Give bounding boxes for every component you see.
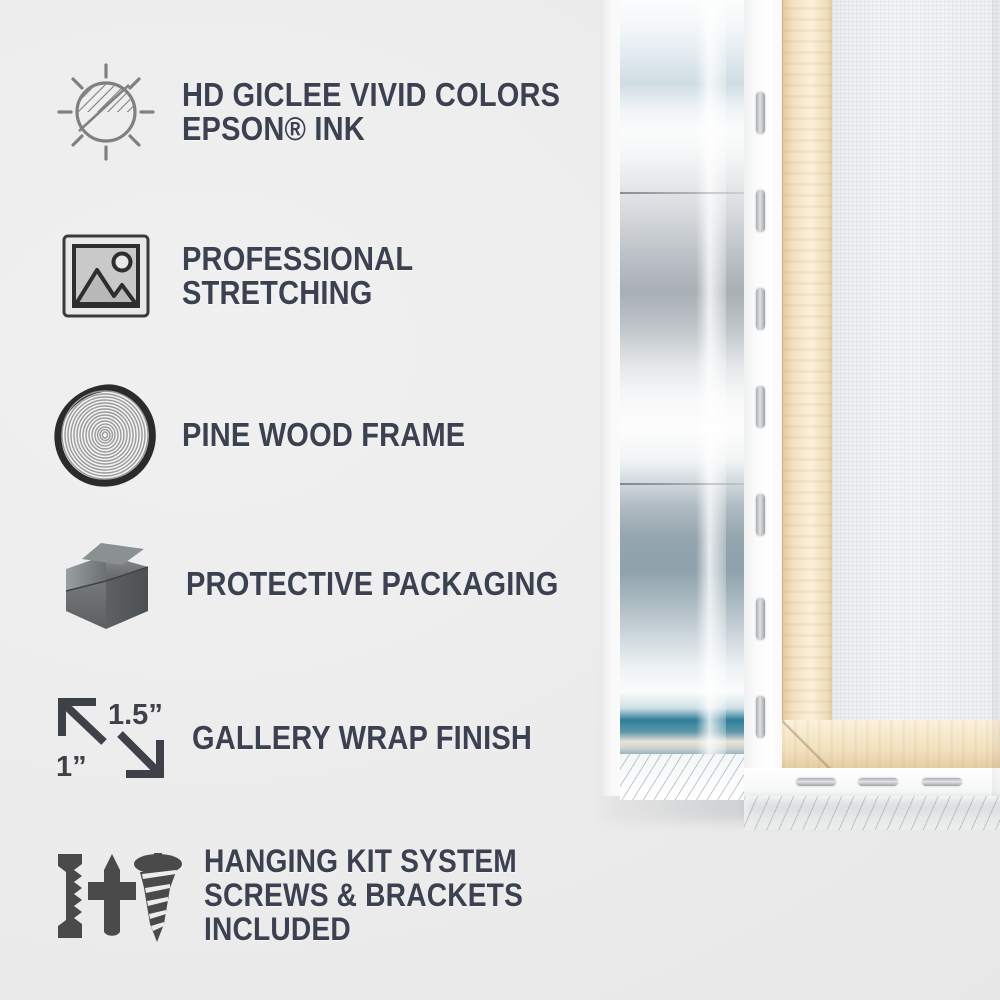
canvas-back-texture [832, 0, 1000, 722]
feature-label: PROTECTIVE PACKAGING [186, 567, 558, 601]
staple [756, 288, 765, 330]
infographic-page: HD GICLEE VIVID COLORS EPSON® INK PROFES… [0, 0, 1000, 1000]
photo-right-fade [992, 0, 1000, 796]
wood-ring-icon [52, 383, 160, 487]
feature-label: PROFESSIONAL STRETCHING [182, 242, 603, 309]
open-box-icon [52, 533, 164, 635]
depth-label: 1.5” [108, 699, 163, 731]
artwork-bottom-wrap [620, 754, 750, 800]
staple [756, 386, 765, 428]
feature-gallery-wrap-finish: 1.5” 1” GALLERY WRAP FINISH [52, 690, 578, 786]
feature-list: HD GICLEE VIVID COLORS EPSON® INK PROFES… [0, 0, 660, 1000]
staple [922, 778, 962, 786]
staple [756, 598, 765, 640]
feature-professional-stretching: PROFESSIONAL STRETCHING [52, 228, 660, 324]
picture-frame-icon [52, 228, 160, 324]
canvas-drop-shadow [746, 800, 1000, 826]
feature-hd-giclee: HD GICLEE VIVID COLORS EPSON® INK [52, 58, 612, 166]
artwork-fold-line-bottom [620, 483, 750, 485]
staple [756, 190, 765, 232]
staple [858, 778, 898, 786]
staple [756, 92, 765, 134]
staple [756, 494, 765, 536]
stretcher-miter-joint [782, 720, 836, 772]
artwork-fold-line-top [620, 192, 750, 194]
dimension-arrows-icon: 1.5” 1” [52, 690, 170, 786]
feature-label: HANGING KIT SYSTEM SCREWS & BRACKETS INC… [204, 845, 605, 947]
pine-stretcher-bar-vertical [782, 0, 834, 768]
canvas-corner-photo [596, 0, 1000, 816]
feature-protective-packaging: PROTECTIVE PACKAGING [52, 533, 609, 635]
wrapped-artwork-edge [620, 0, 750, 796]
width-label: 1” [56, 751, 87, 783]
feature-pine-wood-frame: PINE WOOD FRAME [52, 383, 504, 487]
artwork-corner-crease [696, 0, 726, 796]
feature-label: GALLERY WRAP FINISH [192, 721, 532, 755]
feature-label: HD GICLEE VIVID COLORS EPSON® INK [182, 78, 560, 145]
staple [756, 696, 765, 738]
staple [796, 778, 836, 786]
feature-hanging-kit: HANGING KIT SYSTEM SCREWS & BRACKETS INC… [52, 845, 660, 947]
hanging-hardware-icon [52, 848, 182, 944]
sun-print-icon [52, 58, 160, 166]
feature-label: PINE WOOD FRAME [182, 418, 465, 452]
